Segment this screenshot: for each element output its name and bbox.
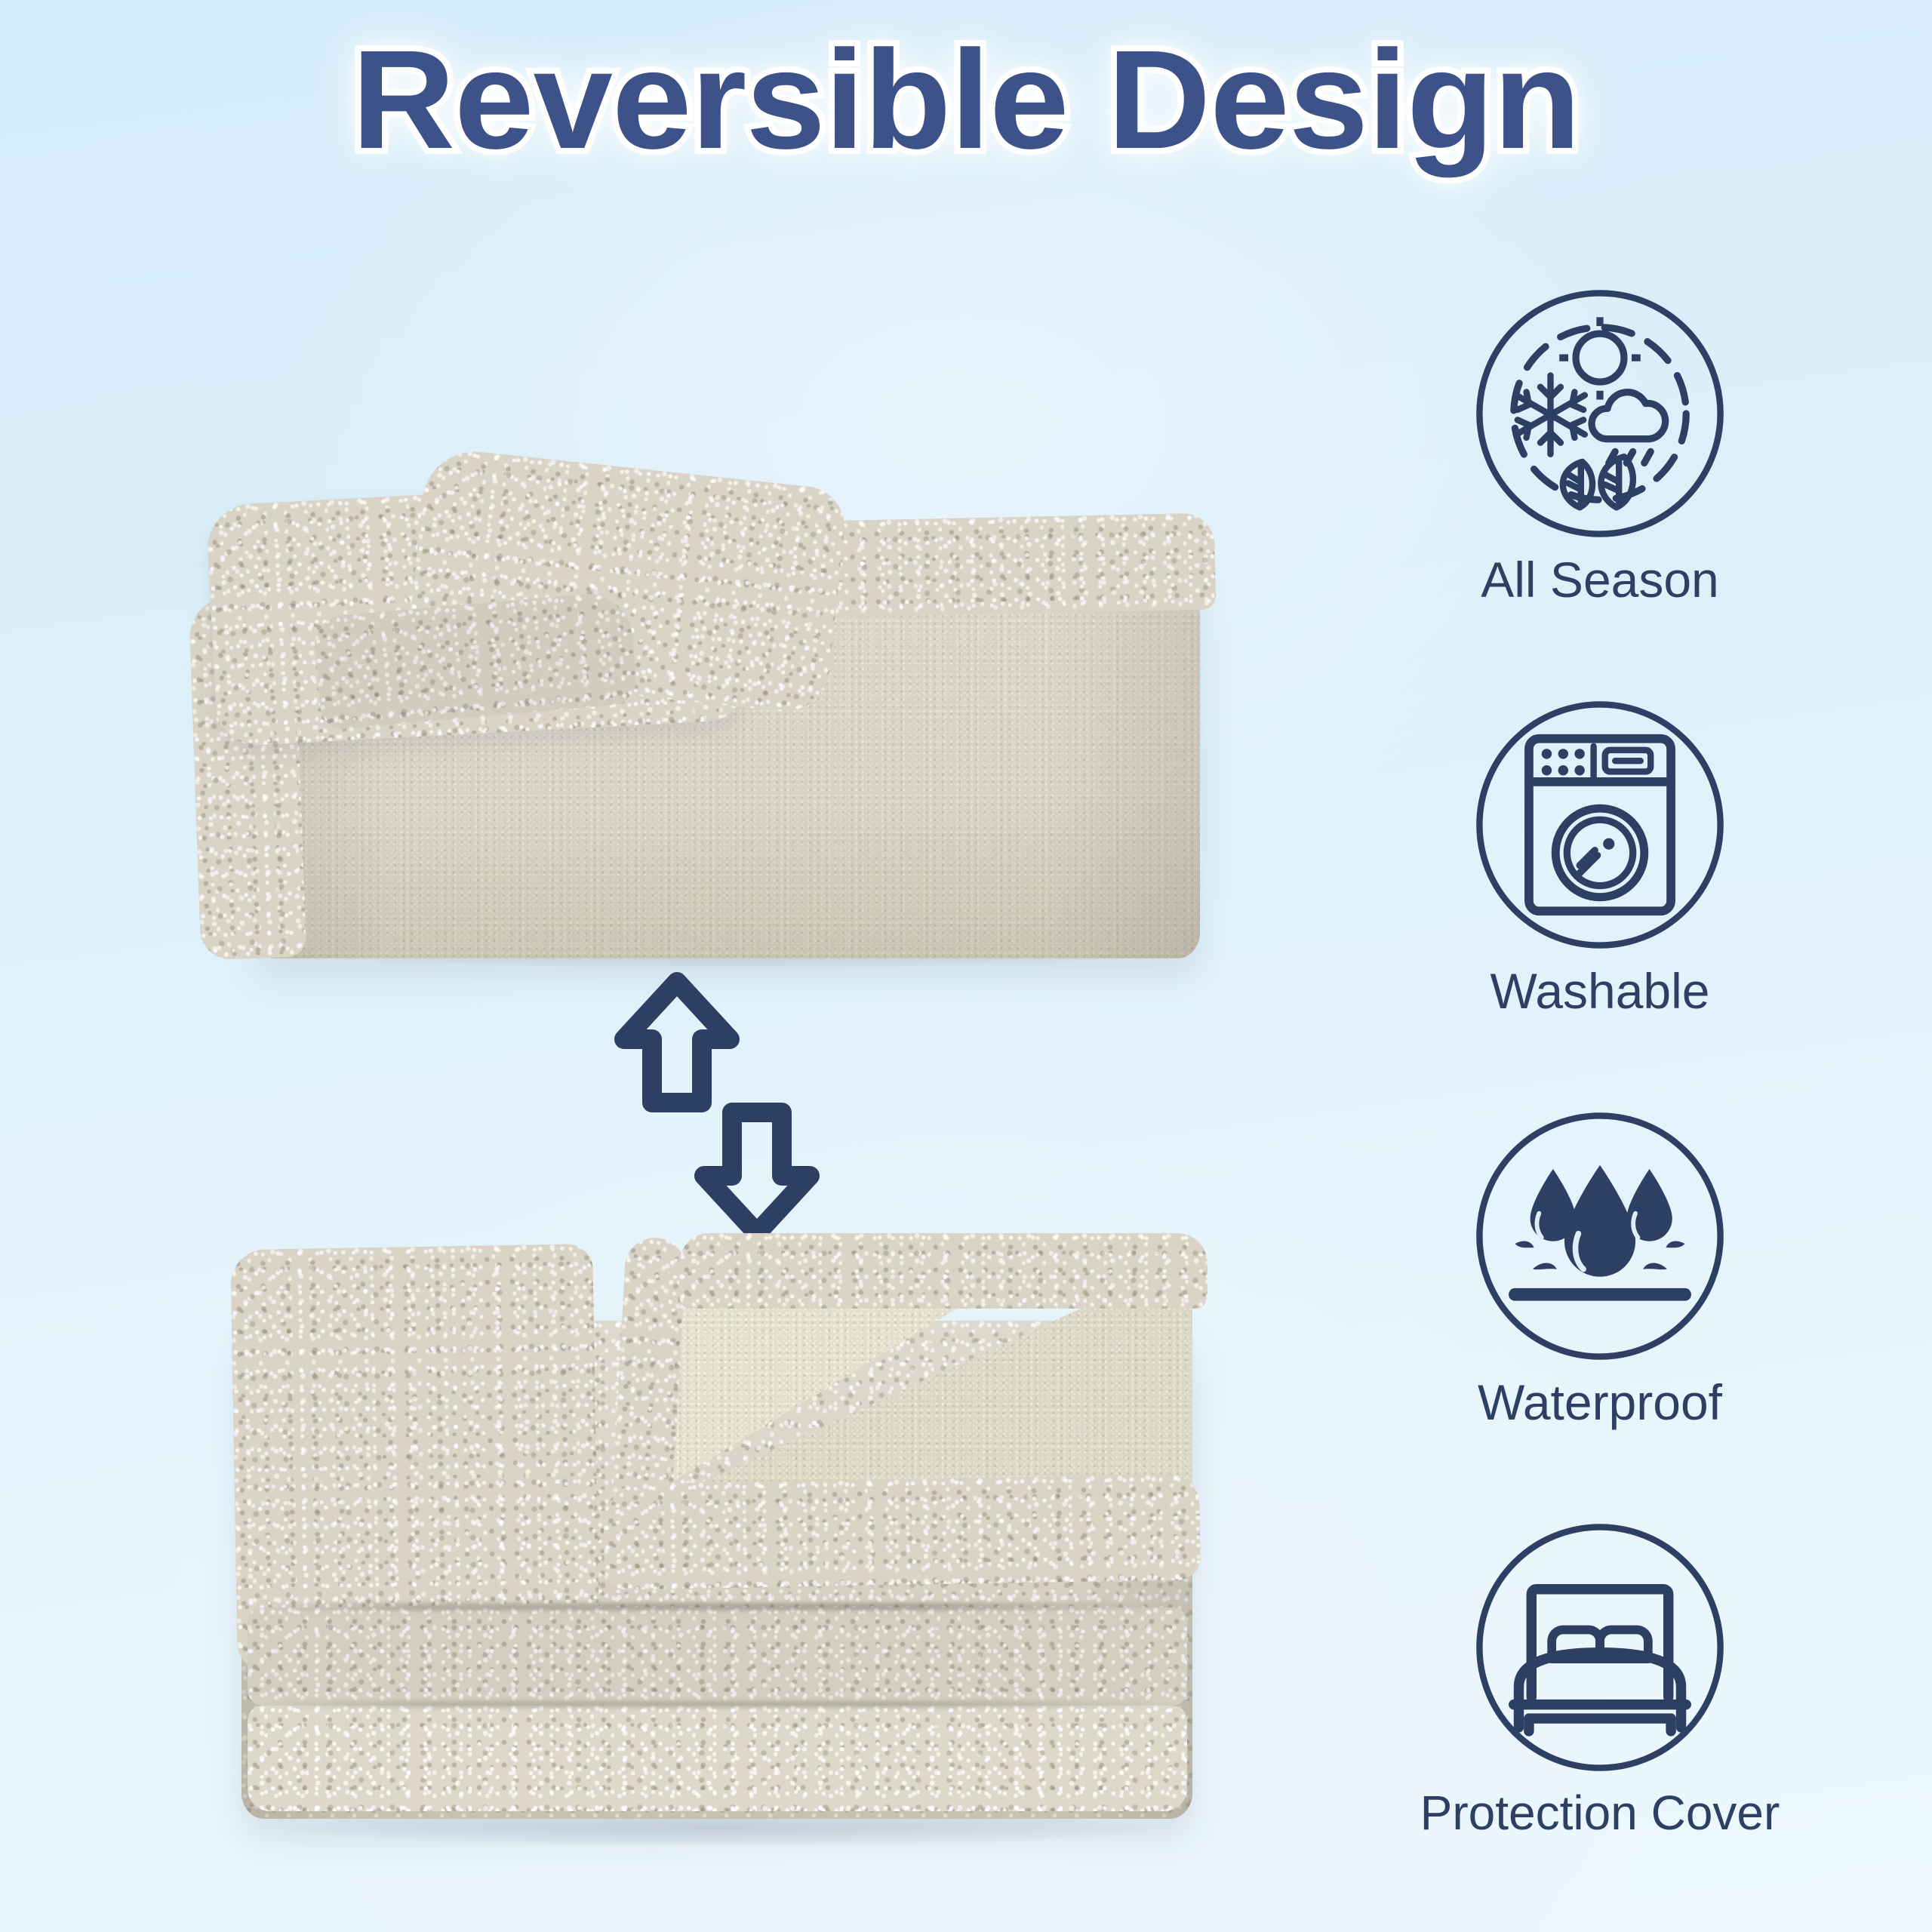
- arrow-up-down-icon: [608, 970, 826, 1245]
- feature-label-all-season: All Season: [1481, 552, 1719, 608]
- bed-icon: [1473, 1521, 1727, 1774]
- blanket-bottom-top-rim: [679, 1233, 1207, 1309]
- feature-label-protection-cover: Protection Cover: [1420, 1786, 1780, 1839]
- water-droplets-icon: [1473, 1109, 1727, 1363]
- feature-item-protection-cover: Protection Cover: [1389, 1521, 1811, 1932]
- blanket-bottom-fold-band-1: [248, 1607, 1187, 1706]
- blanket-bottom-fold-band-2: [248, 1706, 1187, 1811]
- infographic-canvas: Reversible Design: [0, 0, 1932, 1932]
- product-image-sherpa-side: [226, 1230, 1207, 1857]
- product-image-fleece-side: [189, 423, 1223, 966]
- feature-item-washable: Washable: [1389, 698, 1811, 1109]
- reversible-arrows: [608, 970, 826, 1245]
- page-title-wrapper: Reversible Design: [0, 27, 1932, 173]
- feature-list: All Season: [1389, 287, 1811, 1932]
- blanket-bottom-crease-1: [257, 1603, 1177, 1611]
- page-title: Reversible Design: [352, 27, 1580, 173]
- feature-label-waterproof: Waterproof: [1478, 1375, 1722, 1430]
- feature-label-washable: Washable: [1490, 964, 1709, 1019]
- feature-item-all-season: All Season: [1389, 287, 1811, 698]
- blanket-bottom-crease-2: [257, 1701, 1177, 1708]
- washing-machine-icon: [1473, 698, 1727, 952]
- blanket-bottom-mid-rim: [603, 1474, 1201, 1590]
- feature-item-waterproof: Waterproof: [1389, 1109, 1811, 1521]
- all-season-icon: [1473, 287, 1727, 540]
